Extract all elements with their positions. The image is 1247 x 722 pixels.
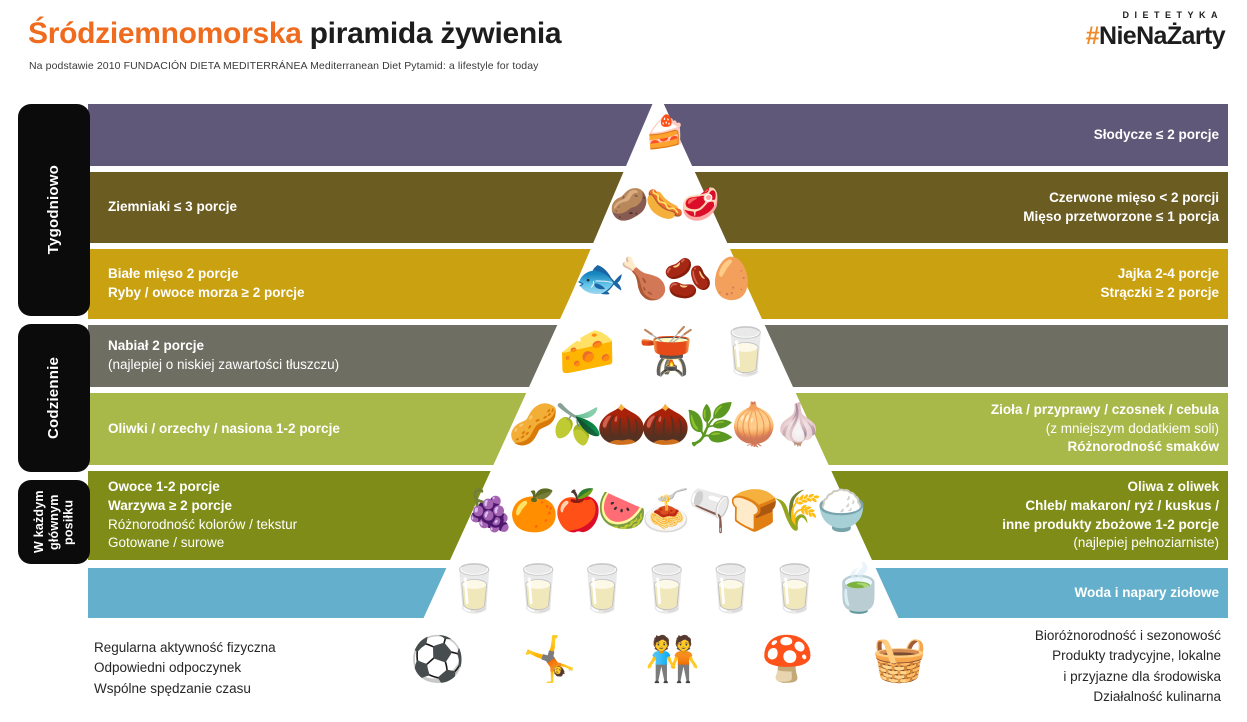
rice-bowl-icon: 🍚 [817,492,867,532]
band-line: Warzywa ≥ 2 porcje [108,497,232,516]
footer-line: i przyjazne dla środowiska [1035,667,1221,687]
pyramid-band-sweets: Słodycze ≤ 2 porcje [0,104,1247,166]
cheese-wedge-icon: 🧀 [559,328,616,374]
seeds-icon: 🌰 [641,405,691,445]
band-label-left-white-meat-fish-eggs: Białe mięso 2 porcjeRyby / owoce morza ≥… [108,249,304,319]
page-title-rest: piramida żywienia [302,17,562,50]
band-line: Oliwa z oliwek [1127,478,1219,497]
footer-line: Odpowiedni odpoczynek [94,658,276,678]
sausage-icon: 🌭 [645,189,684,220]
soccer-player-icon: ⚽ [410,638,465,682]
band-line: Różnorodność smaków [1067,438,1219,457]
nuts-icon: 🥜 [508,405,558,445]
band-label-right-water: Woda i napary ziołowe [1074,568,1219,618]
watermelon-icon: 🍉 [597,492,647,532]
olive-oil-bottle-icon: 🫗 [685,492,735,532]
infographic-root: Śródziemnomorska piramida żywienia Na po… [0,0,1247,722]
band-line: Czerwone mięso < 2 porcji [1049,189,1219,208]
band-label-right-potatoes-red-meat: Czerwone mięso < 2 porcjiMięso przetworz… [1023,172,1219,243]
pasta-icon: 🍝 [641,492,691,532]
footer-line: Wspólne spędzanie czasu [94,679,276,699]
band-label-right-white-meat-fish-eggs: Jajka 2-4 porcjeStrączki ≥ 2 porcje [1101,249,1219,319]
mushrooms-icon: 🍄 [760,638,815,682]
band-line: (najlepiej o niskiej zawartości tłuszczu… [108,356,339,375]
band-line: Nabiał 2 porcje [108,337,204,356]
band-line: Białe mięso 2 porcje [108,265,239,284]
band-line: Oliwki / orzechy / nasiona 1-2 porcje [108,420,340,439]
brand-logo-main: #NieNaŻarty [1045,23,1225,49]
band-line: inne produkty zbożowe 1-2 porcje [1002,516,1219,535]
salmon-steak-icon: 🐟 [575,260,625,300]
water-glass-icon: 🥛 [510,565,567,611]
bread-icon: 🍞 [729,492,779,532]
olives-icon: 🫒 [553,405,603,445]
band-label-left-dairy: Nabiał 2 porcje(najlepiej o niskiej zawa… [108,325,339,387]
water-glass-icon: 🥛 [766,565,823,611]
water-glass-icon: 🥛 [638,565,695,611]
wheat-icon: 🌾 [773,492,823,532]
category-tab-label: W każdym głównym posiłku [32,480,76,564]
band-line: Woda i napary ziołowe [1074,584,1219,603]
band-fill-sweets [0,104,1247,166]
band-label-left-fruit-veg-grains: Owoce 1-2 porcjeWarzywa ≥ 2 porcjeRóżnor… [108,471,297,560]
grapes-icon: 🍇 [465,492,515,532]
brand-logo-top: DIETETYKA [1045,10,1225,20]
people-at-table-icon: 🧑‍🤝‍🧑 [645,638,700,682]
herbs-icon: 🌿 [685,405,735,445]
category-tab-label: Codziennie [45,357,63,439]
band-label-right-sweets: Słodycze ≤ 2 porcje [1094,104,1219,166]
band-line: Strączki ≥ 2 porcje [1101,284,1219,303]
water-glass-icon: 🥛 [446,565,503,611]
category-tab-2: W każdym głównym posiłku [18,480,90,564]
beans-icon: 🫘 [663,260,713,300]
band-line: Gotowane / surowe [108,534,224,553]
potatoes-icon: 🥔 [610,189,649,220]
footer-line: Produkty tradycyjne, lokalne [1035,646,1221,666]
band-line: Ziemniaki ≤ 3 porcje [108,198,237,217]
apple-icon: 🍎 [553,492,603,532]
orange-icon: 🍊 [509,492,559,532]
page-subtitle: Na podstawie 2010 FUNDACIÓN DIETA MEDITE… [29,60,539,72]
band-line: Ryby / owoce morza ≥ 2 porcje [108,284,304,303]
white-cheese-icon: 🫕 [638,328,695,374]
band-line: Słodycze ≤ 2 porcje [1094,126,1219,145]
egg-icon: 🥚 [707,260,757,300]
water-glass-icon: 🥛 [702,565,759,611]
band-line: Jajka 2-4 porcje [1118,265,1219,284]
category-tab-1: Codziennie [18,324,90,472]
category-tab-label: Tygodniowo [45,165,63,254]
apple-crate-icon: 🧺 [872,638,927,682]
steak-icon: 🥩 [681,189,720,220]
page-title: Śródziemnomorska piramida żywienia [28,17,561,51]
milk-glass-icon: 🥛 [717,328,774,374]
band-label-left-potatoes-red-meat: Ziemniaki ≤ 3 porcje [108,172,237,243]
page-title-accent: Śródziemnomorska [28,17,302,50]
stretching-person-icon: 🤸 [522,638,577,682]
band-label-right-fruit-veg-grains: Oliwa z oliwekChleb/ makaron/ ryż / kusk… [1002,471,1219,560]
walnut-icon: 🌰 [597,405,647,445]
footer-line: Regularna aktywność fizyczna [94,638,276,658]
garlic-icon: 🧄 [773,405,823,445]
band-line: Chleb/ makaron/ ryż / kuskus / [1025,497,1219,516]
brand-logo-name: NieNaŻarty [1099,22,1225,50]
cake-slice-icon: 🍰 [645,116,685,148]
pyramid-band-dairy: Nabiał 2 porcje(najlepiej o niskiej zawa… [0,325,1247,387]
band-line: Owoce 1-2 porcje [108,478,220,497]
chicken-drumstick-icon: 🍗 [619,260,669,300]
water-glass-icon: 🥛 [574,565,631,611]
footer-left-text: Regularna aktywność fizycznaOdpowiedni o… [94,638,276,699]
band-label-left-olives-nuts-seeds: Oliwki / orzechy / nasiona 1-2 porcje [108,393,340,465]
footer-line: Bioróżnorodność i sezonowość [1035,626,1221,646]
band-line: Mięso przetworzone ≤ 1 porcja [1023,208,1219,227]
hash-icon: # [1086,22,1099,50]
onion-icon: 🧅 [729,405,779,445]
header: Śródziemnomorska piramida żywienia Na po… [0,0,1247,96]
brand-logo: DIETETYKA #NieNaŻarty [1045,10,1225,49]
category-tab-0: Tygodniowo [18,104,90,316]
band-line: Różnorodność kolorów / tekstur [108,516,297,535]
band-line: (najlepiej pełnoziarniste) [1073,534,1219,553]
tea-cup-icon: 🍵 [830,565,887,611]
band-line: Zioła / przyprawy / czosnek / cebula [991,401,1219,420]
band-label-right-olives-nuts-seeds: Zioła / przyprawy / czosnek / cebula(z m… [991,393,1219,465]
footer-right-text: Bioróżnorodność i sezonowośćProdukty tra… [1035,626,1221,707]
footer-line: Działalność kulinarna [1035,687,1221,707]
band-line: (z mniejszym dodatkiem soli) [1046,420,1219,439]
